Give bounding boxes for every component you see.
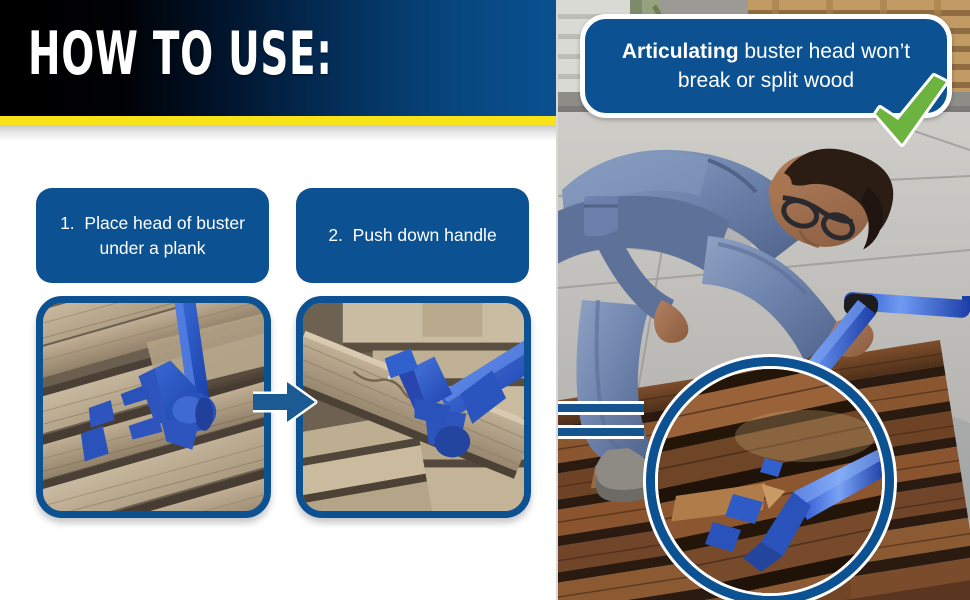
right-hero-panel: Articulating buster head won’t break or … <box>558 0 970 600</box>
page-title: HOW TO USE: <box>28 22 388 86</box>
infographic-root: HOW TO USE: 1. Place head of buster unde… <box>0 0 970 600</box>
left-instructions-panel: HOW TO USE: 1. Place head of buster unde… <box>0 0 558 600</box>
step-1-photo <box>36 296 271 518</box>
step-1-text: Place head of buster <box>84 213 245 233</box>
green-check-icon <box>868 70 954 150</box>
step-1-number: 1. <box>60 213 75 233</box>
step-1-text-line2: under a plank <box>99 238 205 258</box>
step-1-photo-image <box>43 303 264 511</box>
step-2-text: Push down handle <box>353 225 497 245</box>
magnifier-callout <box>655 366 885 596</box>
callout-bold-text: Articulating <box>622 40 739 63</box>
step-progress-arrow <box>253 378 319 426</box>
step-2-photo-image <box>303 303 524 511</box>
step-2-number: 2. <box>328 225 343 245</box>
magnifier-zoom-image <box>655 366 885 596</box>
header-drop-shadow <box>0 125 558 141</box>
step-2-caption: 2. Push down handle <box>296 188 529 283</box>
step-2-photo <box>296 296 531 518</box>
step-1-caption: 1. Place head of buster under a plank <box>36 188 269 283</box>
header-yellow-rule <box>0 116 558 125</box>
